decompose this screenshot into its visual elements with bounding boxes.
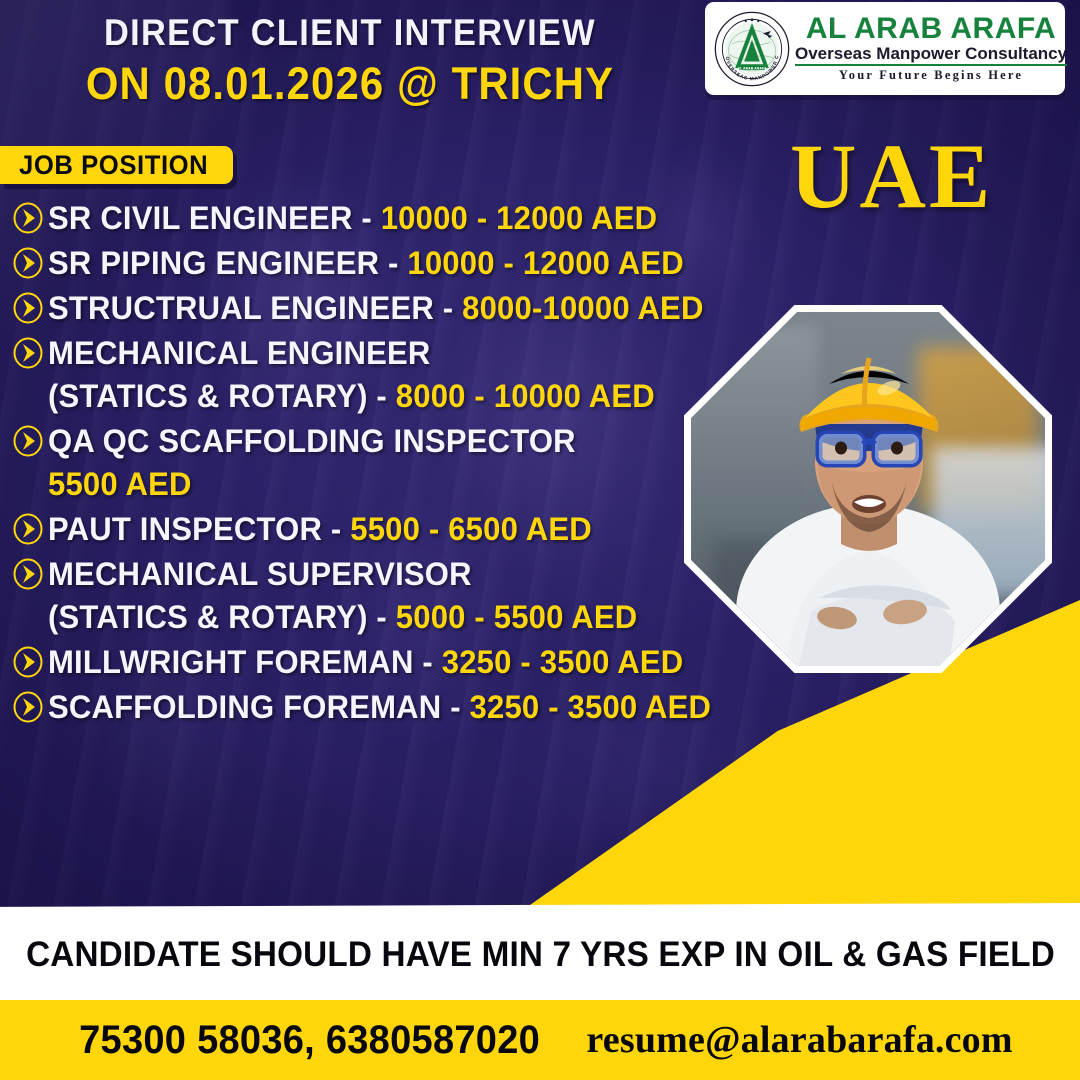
- engineer-photo: [691, 312, 1045, 666]
- job-position-badge: JOB POSITION: [0, 146, 233, 184]
- chevron-right-circle-icon: [8, 241, 48, 285]
- requirement-text: CANDIDATE SHOULD HAVE MIN 7 YRS EXP IN O…: [26, 935, 1055, 975]
- header-title-line1: DIRECT CLIENT INTERVIEW: [25, 14, 676, 53]
- engineer-photo-frame: [684, 305, 1052, 673]
- chevron-right-circle-icon: [8, 507, 48, 551]
- job-position-badge-label: JOB POSITION: [19, 150, 208, 181]
- job-title: PAUT INSPECTOR -: [48, 511, 350, 547]
- job-salary: 10000 - 12000 AED: [381, 200, 658, 236]
- svg-text:AL ARAB ARAFA: AL ARAB ARAFA: [737, 66, 767, 70]
- job-title: MECHANICAL SUPERVISOR: [48, 556, 472, 592]
- job-text-lines: PAUT INSPECTOR - 5500 - 6500 AED: [48, 507, 728, 551]
- job-line: MECHANICAL SUPERVISOR: [48, 553, 708, 596]
- job-salary: 5500 - 6500 AED: [350, 511, 592, 547]
- job-salary: 8000 - 10000 AED: [396, 378, 655, 414]
- job-text-lines: MECHANICAL ENGINEER(STATICS & ROTARY) - …: [48, 331, 728, 418]
- job-text-lines: MILLWRIGHT FOREMAN - 3250 - 3500 AED: [48, 640, 728, 684]
- job-salary: 5500 AED: [48, 466, 192, 502]
- job-text-lines: SCAFFOLDING FOREMAN - 3250 - 3500 AED: [48, 685, 732, 729]
- job-line: (STATICS & ROTARY) - 8000 - 10000 AED: [48, 375, 708, 418]
- job-salary: 8000-10000 AED: [462, 290, 703, 326]
- company-seal-icon: AL ARAB ARAFA OVERSEAS MANPOWER CONSULTA…: [713, 10, 791, 88]
- job-title: (STATICS & ROTARY) -: [48, 378, 396, 414]
- chevron-right-circle-icon: [8, 552, 48, 596]
- job-title: MILLWRIGHT FOREMAN -: [48, 644, 442, 680]
- contact-phone-numbers[interactable]: 75300 58036, 6380587020: [79, 1018, 540, 1063]
- job-row: QA QC SCAFFOLDING INSPECTOR5500 AED: [8, 419, 728, 506]
- header-title-line2: ON 08.01.2026 @ TRICHY: [25, 60, 676, 107]
- contact-email[interactable]: resume@alarabarafa.com: [586, 1018, 1012, 1062]
- header-block: DIRECT CLIENT INTERVIEW ON 08.01.2026 @ …: [0, 14, 700, 107]
- chevron-right-circle-icon: [8, 685, 48, 729]
- job-line: MECHANICAL ENGINEER: [48, 332, 708, 375]
- job-line: (STATICS & ROTARY) - 5000 - 5500 AED: [48, 596, 708, 639]
- chevron-right-circle-icon: [8, 419, 48, 463]
- job-line: SR PIPING ENGINEER - 10000 - 12000 AED: [48, 242, 708, 285]
- job-text-lines: STRUCTRUAL ENGINEER - 8000-10000 AED: [48, 286, 728, 330]
- job-row: SCAFFOLDING FOREMAN - 3250 - 3500 AED: [8, 685, 728, 729]
- job-row: SR CIVIL ENGINEER - 10000 - 12000 AED: [8, 196, 728, 240]
- requirement-bar: CANDIDATE SHOULD HAVE MIN 7 YRS EXP IN O…: [0, 903, 1080, 1000]
- job-title: QA QC SCAFFOLDING INSPECTOR: [48, 423, 576, 459]
- job-positions-list: SR CIVIL ENGINEER - 10000 - 12000 AEDSR …: [8, 196, 728, 730]
- job-line: QA QC SCAFFOLDING INSPECTOR: [48, 420, 708, 463]
- job-line: STRUCTRUAL ENGINEER - 8000-10000 AED: [48, 287, 708, 330]
- job-salary: 10000 - 12000 AED: [407, 245, 684, 281]
- job-title: (STATICS & ROTARY) -: [48, 599, 396, 635]
- job-title: SR PIPING ENGINEER -: [48, 245, 407, 281]
- job-salary: 5000 - 5500 AED: [396, 599, 638, 635]
- job-line: SR CIVIL ENGINEER - 10000 - 12000 AED: [48, 197, 708, 240]
- logo-company-subtitle: Overseas Manpower Consultancy: [795, 44, 1067, 67]
- chevron-right-circle-icon: [8, 331, 48, 375]
- country-label: UAE: [790, 130, 993, 222]
- job-row: PAUT INSPECTOR - 5500 - 6500 AED: [8, 507, 728, 551]
- job-text-lines: SR CIVIL ENGINEER - 10000 - 12000 AED: [48, 196, 728, 240]
- job-title: SCAFFOLDING FOREMAN -: [48, 689, 470, 725]
- job-line: MILLWRIGHT FOREMAN - 3250 - 3500 AED: [48, 641, 708, 684]
- job-row: MECHANICAL SUPERVISOR(STATICS & ROTARY) …: [8, 552, 728, 639]
- job-title: MECHANICAL ENGINEER: [48, 335, 431, 371]
- recruitment-poster: DIRECT CLIENT INTERVIEW ON 08.01.2026 @ …: [0, 0, 1080, 1080]
- company-logo: AL ARAB ARAFA OVERSEAS MANPOWER CONSULTA…: [705, 2, 1065, 95]
- logo-text-block: AL ARAB ARAFA Overseas Manpower Consulta…: [791, 14, 1067, 84]
- logo-tagline: Your Future Begins Here: [795, 68, 1067, 83]
- engineer-figure: [691, 312, 1045, 666]
- logo-company-name: AL ARAB ARAFA: [795, 14, 1067, 44]
- job-line: SCAFFOLDING FOREMAN - 3250 - 3500 AED: [48, 686, 711, 729]
- job-row: STRUCTRUAL ENGINEER - 8000-10000 AED: [8, 286, 728, 330]
- chevron-right-circle-icon: [8, 640, 48, 684]
- job-title: SR CIVIL ENGINEER -: [48, 200, 381, 236]
- job-text-lines: SR PIPING ENGINEER - 10000 - 12000 AED: [48, 241, 728, 285]
- job-row: SR PIPING ENGINEER - 10000 - 12000 AED: [8, 241, 728, 285]
- job-line: 5500 AED: [48, 463, 708, 506]
- chevron-right-circle-icon: [8, 196, 48, 240]
- job-text-lines: QA QC SCAFFOLDING INSPECTOR5500 AED: [48, 419, 728, 506]
- chevron-right-circle-icon: [8, 286, 48, 330]
- job-row: MILLWRIGHT FOREMAN - 3250 - 3500 AED: [8, 640, 728, 684]
- job-row: MECHANICAL ENGINEER(STATICS & ROTARY) - …: [8, 331, 728, 418]
- contact-bar: 75300 58036, 6380587020 resume@alarabara…: [0, 1000, 1080, 1080]
- job-salary: 3250 - 3500 AED: [442, 644, 684, 680]
- job-text-lines: MECHANICAL SUPERVISOR(STATICS & ROTARY) …: [48, 552, 728, 639]
- job-title: STRUCTRUAL ENGINEER -: [48, 290, 462, 326]
- job-salary: 3250 - 3500 AED: [470, 689, 712, 725]
- job-line: PAUT INSPECTOR - 5500 - 6500 AED: [48, 508, 708, 551]
